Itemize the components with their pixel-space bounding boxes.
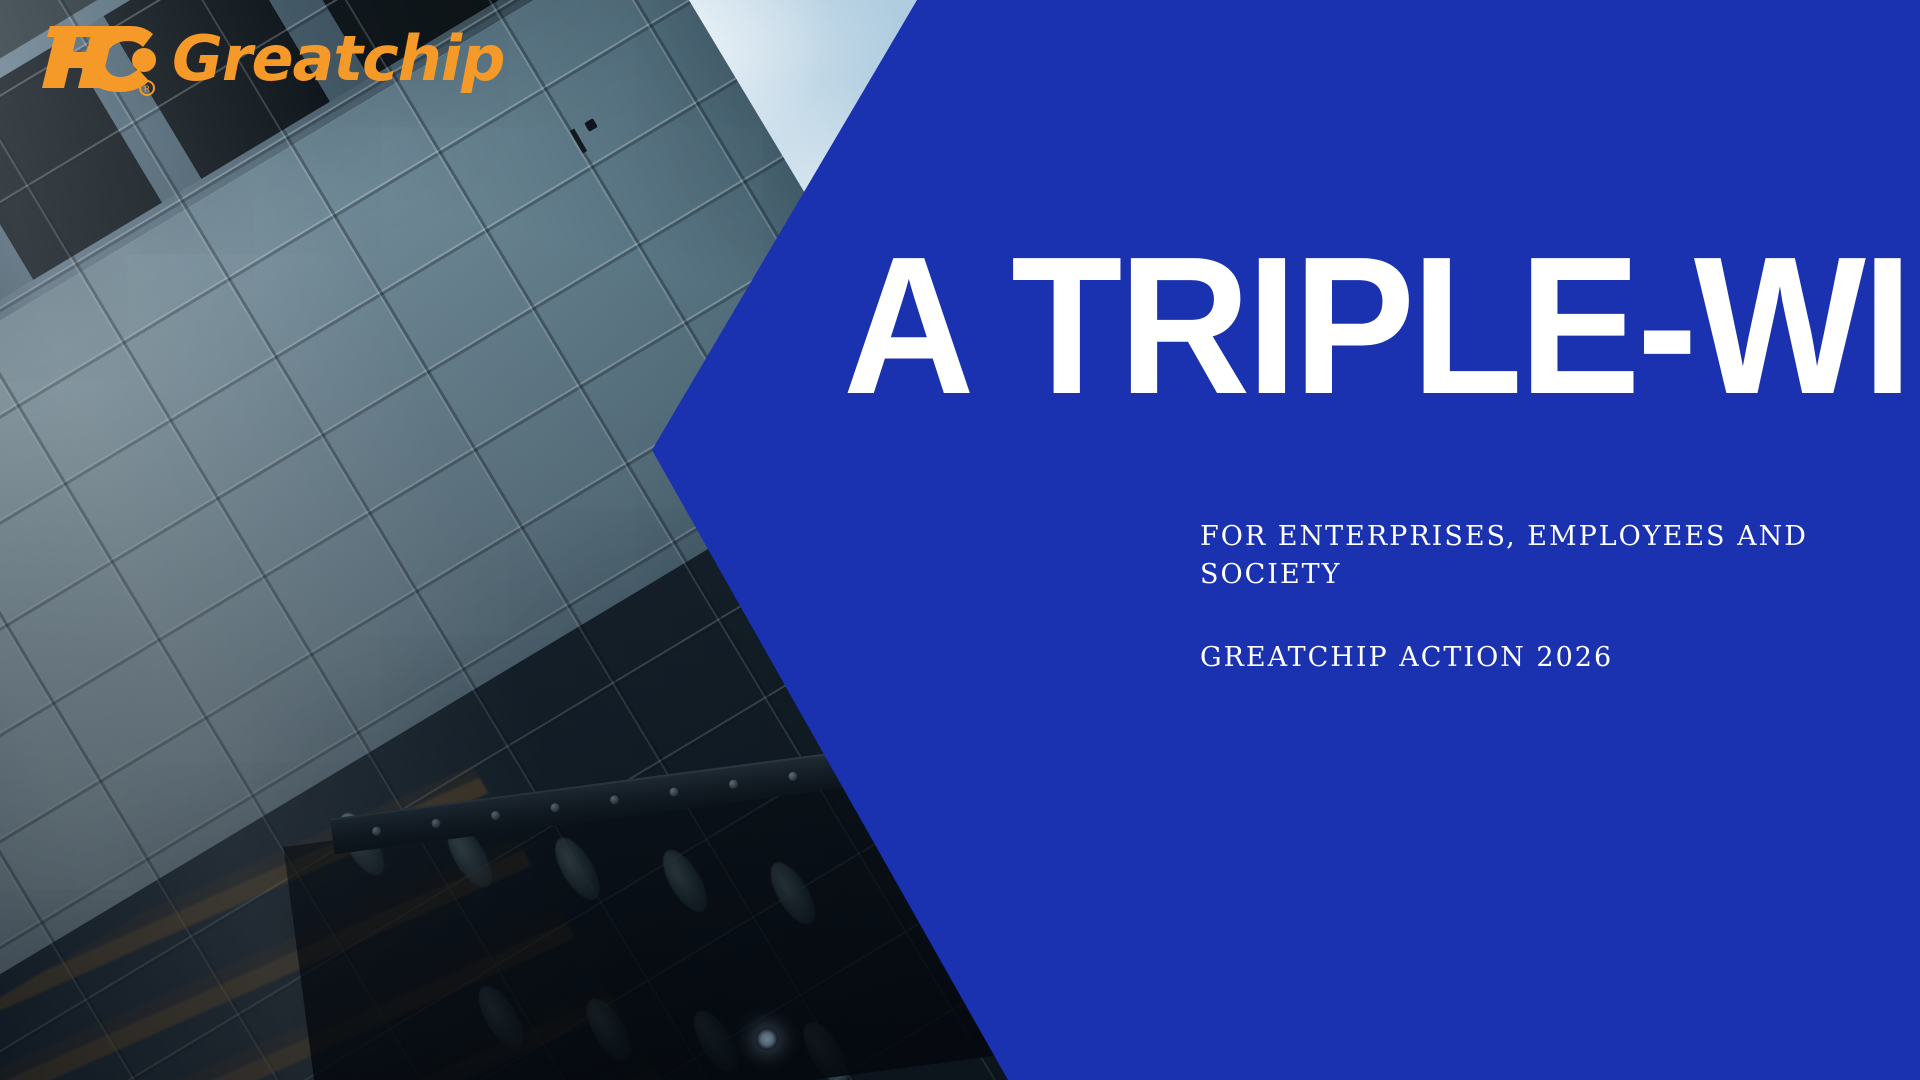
subtitle-block: FOR ENTERPRISES, EMPLOYEES AND SOCIETY G… xyxy=(1200,518,1840,677)
ceiling-spotlight xyxy=(756,1028,778,1050)
brand-name: Greatchip xyxy=(172,28,505,90)
hc-monogram-icon: R xyxy=(34,22,158,96)
presentation-slide: R Greatchip A TRIPLE-WIN FOR ENTERPRISES… xyxy=(0,0,1920,1080)
page-title: A TRIPLE-WIN xyxy=(843,236,1838,416)
subtitle-campaign: GREATCHIP ACTION 2026 xyxy=(1200,639,1840,677)
brand-logo[interactable]: R Greatchip xyxy=(34,22,505,96)
svg-text:R: R xyxy=(144,85,150,95)
subtitle-primary: FOR ENTERPRISES, EMPLOYEES AND SOCIETY xyxy=(1200,518,1840,595)
